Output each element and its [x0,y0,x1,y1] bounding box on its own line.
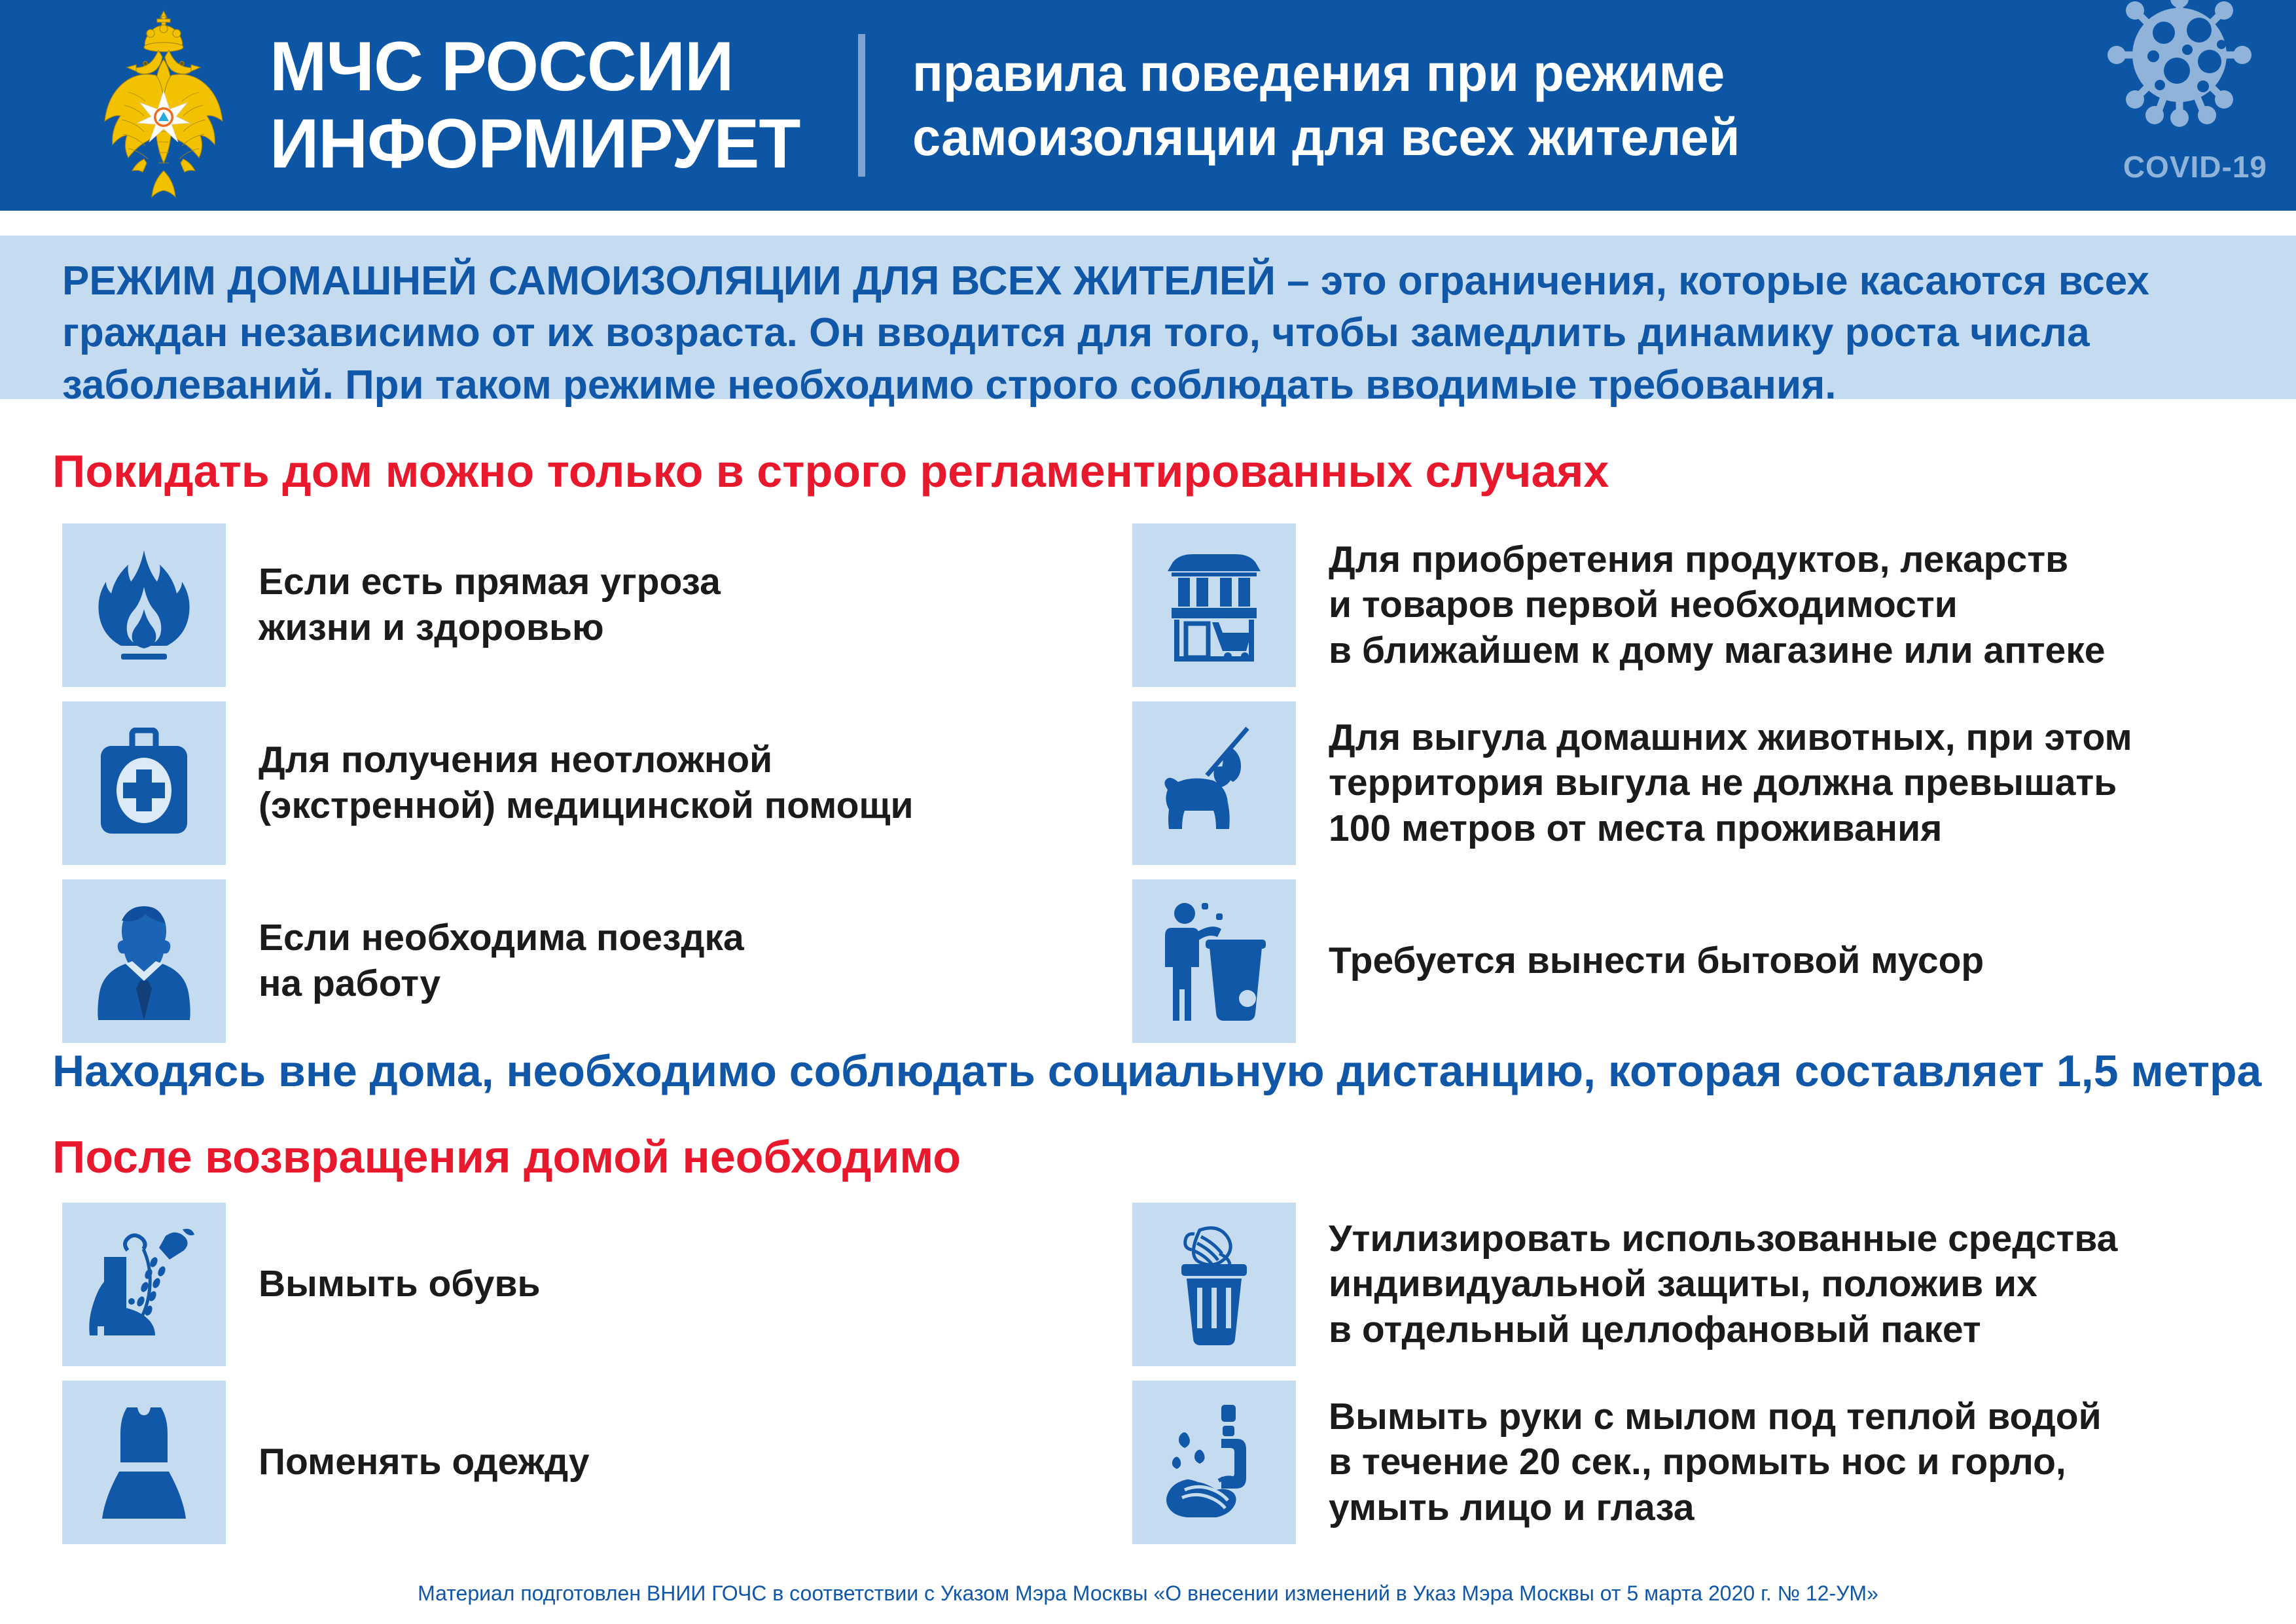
list-item: Для приобретения продуктов, лекарств и т… [1132,523,2245,687]
list-item: Для получения неотложной (экстренной) ме… [62,701,1109,865]
list-item-text: Вымыть руки с мылом под теплой водой в т… [1329,1394,2102,1531]
leave-home-left-column: Если есть прямая угроза жизни и здоровью… [62,523,1109,1057]
boot-washing-icon [62,1203,226,1366]
list-item-text: Требуется вынести бытовой мусор [1329,938,1984,984]
infographic-page: МЧС РОССИИ ИНФОРМИРУЕТ правила поведения… [0,0,2296,1624]
list-item-text: Поменять одежду [259,1439,590,1485]
mask-in-trash-bin-icon [1132,1203,1296,1366]
header-divider [858,34,865,177]
list-item: Вымыть руки с мылом под теплой водой в т… [1132,1381,2245,1544]
org-title: МЧС РОССИИ ИНФОРМИРУЕТ [270,28,800,182]
list-item-text: Вымыть обувь [259,1262,541,1307]
person-throwing-trash-icon [1132,879,1296,1043]
header-banner: МЧС РОССИИ ИНФОРМИРУЕТ правила поведения… [0,0,2296,211]
businessman-icon [62,879,226,1043]
list-item: Утилизировать использованные средства ин… [1132,1203,2245,1366]
list-item: Вымыть обувь [62,1203,1109,1366]
header-subtitle: правила поведения при режиме самоизоляци… [912,41,1740,169]
fire-flame-icon [62,523,226,687]
list-item-text: Для выгула домашних животных, при этом т… [1329,715,2132,852]
russia-double-headed-eagle-emblem-icon [98,7,229,203]
list-item-text: Для приобретения продуктов, лекарств и т… [1329,537,2105,674]
return-home-right-column: Утилизировать использованные средства ин… [1132,1203,2245,1559]
footer-note: Материал подготовлен ВНИИ ГОЧС в соответ… [0,1581,2296,1606]
list-item-text: Если есть прямая угроза жизни и здоровью [259,559,721,650]
list-item: Поменять одежду [62,1381,1109,1544]
list-item-text: Для получения неотложной (экстренной) ме… [259,737,914,828]
list-item-text: Если необходима поездка на работу [259,915,744,1006]
return-home-heading: После возвращения домой необходимо [52,1131,961,1183]
first-aid-kit-icon [62,701,226,865]
covid-label: COVID-19 [2123,149,2267,185]
handwashing-icon [1132,1381,1296,1544]
dog-on-leash-icon [1132,701,1296,865]
leave-home-right-column: Для приобретения продуктов, лекарств и т… [1132,523,2245,1057]
coronavirus-icon [2081,0,2278,147]
dress-clothing-icon [62,1381,226,1544]
list-item: Если необходима поездка на работу [62,879,1109,1043]
return-home-left-column: Вымыть обувь Поменять одежду [62,1203,1109,1559]
social-distance-note: Находясь вне дома, необходимо соблюдать … [52,1046,2261,1097]
shop-storefront-icon [1132,523,1296,687]
list-item: Если есть прямая угроза жизни и здоровью [62,523,1109,687]
list-item: Требуется вынести бытовой мусор [1132,879,2245,1043]
intro-paragraph: РЕЖИМ ДОМАШНЕЙ САМОИЗОЛЯЦИИ ДЛЯ ВСЕХ ЖИТ… [62,255,2242,411]
list-item-text: Утилизировать использованные средства ин… [1329,1216,2117,1353]
leave-home-heading: Покидать дом можно только в строго регла… [52,445,1609,497]
intro-panel: РЕЖИМ ДОМАШНЕЙ САМОИЗОЛЯЦИИ ДЛЯ ВСЕХ ЖИТ… [0,236,2296,399]
covid-badge: COVID-19 [2067,0,2289,211]
list-item: Для выгула домашних животных, при этом т… [1132,701,2245,865]
intro-lead: РЕЖИМ ДОМАШНЕЙ САМОИЗОЛЯЦИИ ДЛЯ ВСЕХ ЖИТ… [62,258,1276,304]
